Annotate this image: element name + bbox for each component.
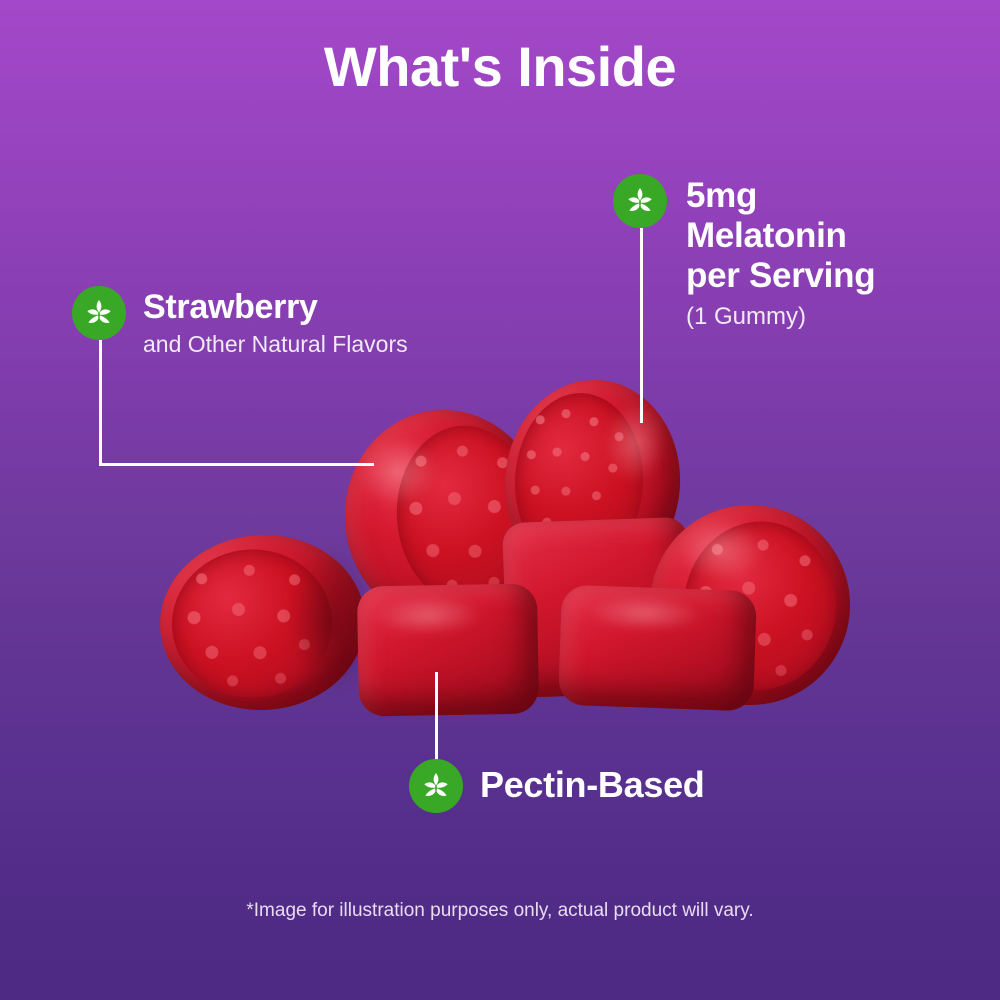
callout-strawberry-subtext: and Other Natural Flavors xyxy=(143,330,408,359)
callout-melatonin: 5mg Melatonin per Serving (1 Gummy) xyxy=(686,176,875,332)
gummy-back-left xyxy=(334,400,555,635)
leaf-icon-pectin xyxy=(409,759,463,813)
gummy-back-right xyxy=(498,374,687,591)
gummy-front-right xyxy=(558,585,757,712)
callout-pectin: Pectin-Based xyxy=(480,765,704,805)
leaf-icon-melatonin xyxy=(613,174,667,228)
gummy-front-left xyxy=(357,583,539,716)
callout-strawberry: Strawberry and Other Natural Flavors xyxy=(143,288,408,359)
callout-strawberry-heading: Strawberry xyxy=(143,288,408,326)
footer-disclaimer: *Image for illustration purposes only, a… xyxy=(0,900,1000,922)
callout-melatonin-heading-line2: Melatonin xyxy=(686,216,875,256)
leader-line-strawberry-vertical xyxy=(99,340,102,465)
leader-line-strawberry-horizontal xyxy=(99,463,374,466)
callout-melatonin-heading-line1: 5mg xyxy=(686,176,875,216)
infographic-canvas: What's Inside xyxy=(0,0,1000,1000)
gummy-left-round xyxy=(156,530,370,715)
leaf-icon-strawberry xyxy=(72,286,126,340)
page-title: What's Inside xyxy=(0,36,1000,98)
callout-melatonin-subtext: (1 Gummy) xyxy=(686,302,875,332)
gummy-right-round xyxy=(645,500,855,710)
callout-pectin-heading: Pectin-Based xyxy=(480,765,704,805)
leader-line-melatonin xyxy=(640,228,643,423)
product-image xyxy=(0,0,1000,1000)
gummy-middle-back xyxy=(502,517,693,698)
callout-melatonin-heading-line3: per Serving xyxy=(686,256,875,296)
